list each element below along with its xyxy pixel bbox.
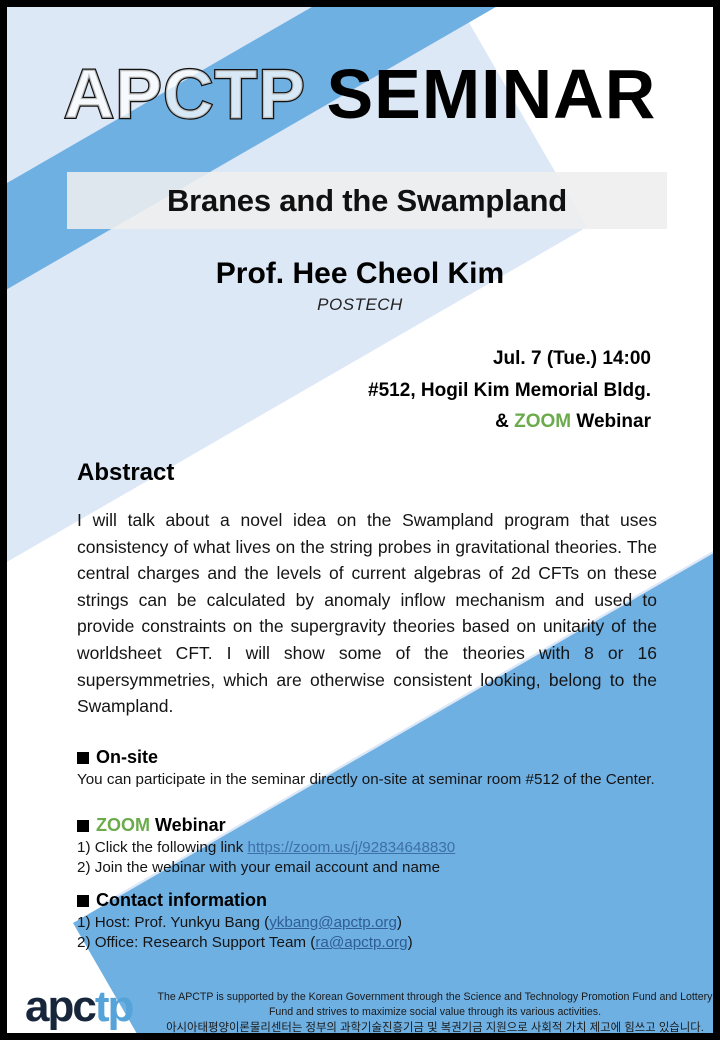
zoom-heading-rest: Webinar [150,815,226,835]
onsite-heading: On-site [77,747,665,768]
abstract-body: I will talk about a novel idea on the Sw… [77,507,657,720]
speaker-name: Prof. Hee Cheol Kim [7,257,713,291]
contact-heading: Contact information [77,890,665,911]
header-brand: APCTP [64,55,306,133]
poster-sheet: APCTP SEMINAR Branes and the Swampland P… [7,7,713,1033]
square-bullet-icon [77,752,89,764]
zoom-webinar-block: ZOOM Webinar 1) Click the following link… [77,815,665,878]
contact-host-label: 1) Host: Prof. Yunkyu Bang ( [77,914,269,931]
contact-host-line: 1) Host: Prof. Yunkyu Bang (ykbang@apctp… [77,913,665,933]
onsite-block: On-site You can participate in the semin… [77,747,665,790]
poster-content: APCTP SEMINAR Branes and the Swampland P… [7,7,713,1033]
contact-block: Contact information 1) Host: Prof. Yunky… [77,890,665,953]
contact-host-close: ) [397,914,402,931]
seminar-meta: Jul. 7 (Tue.) 14:00 #512, Hogil Kim Memo… [368,343,651,438]
speaker-affiliation: POSTECH [7,295,713,315]
apctp-logo: apctp [25,985,132,1029]
square-bullet-icon [77,895,89,907]
office-email-link[interactable]: ra@apctp.org [315,934,407,951]
talk-title: Branes and the Swampland [167,183,567,219]
apctp-logo-tp: tp [95,982,133,1031]
zoom-heading-brand: ZOOM [96,815,150,835]
onsite-heading-text: On-site [96,747,158,767]
zoom-meeting-link[interactable]: https://zoom.us/j/92834648830 [248,839,456,856]
contact-office-label: 2) Office: Research Support Team ( [77,934,315,951]
seminar-mode-brand: ZOOM [514,411,571,432]
footer-line-korean: 아시아태평양이론물리센터는 정부의 과학기술진흥기금 및 복권기금 지원으로 사… [157,1020,713,1033]
footer-funding-note: The APCTP is supported by the Korean Gov… [157,990,713,1033]
seminar-mode-prefix: & [495,411,514,432]
seminar-mode: & ZOOM Webinar [368,406,651,438]
seminar-mode-suffix: Webinar [571,411,651,432]
zoom-step-2: 2) Join the webinar with your email acco… [77,858,665,878]
talk-title-band: Branes and the Swampland [67,172,667,229]
seminar-poster: APCTP SEMINAR Branes and the Swampland P… [0,0,720,1040]
footer-line-1: The APCTP is supported by the Korean Gov… [158,991,630,1003]
host-email-link[interactable]: ykbang@apctp.org [269,914,397,931]
seminar-datetime: Jul. 7 (Tue.) 14:00 [368,343,651,375]
zoom-step-1-text: 1) Click the following link [77,839,248,856]
apctp-logo-apc: apc [25,982,95,1031]
abstract-heading: Abstract [77,459,174,487]
poster-header: APCTP SEMINAR [7,59,713,129]
zoom-step-1: 1) Click the following link https://zoom… [77,838,665,858]
contact-heading-text: Contact information [96,890,267,910]
header-word: SEMINAR [326,55,656,133]
contact-office-close: ) [408,934,413,951]
seminar-venue: #512, Hogil Kim Memorial Bldg. [368,375,651,407]
contact-office-line: 2) Office: Research Support Team (ra@apc… [77,933,665,953]
square-bullet-icon [77,820,89,832]
onsite-body: You can participate in the seminar direc… [77,770,665,790]
zoom-heading: ZOOM Webinar [77,815,665,836]
